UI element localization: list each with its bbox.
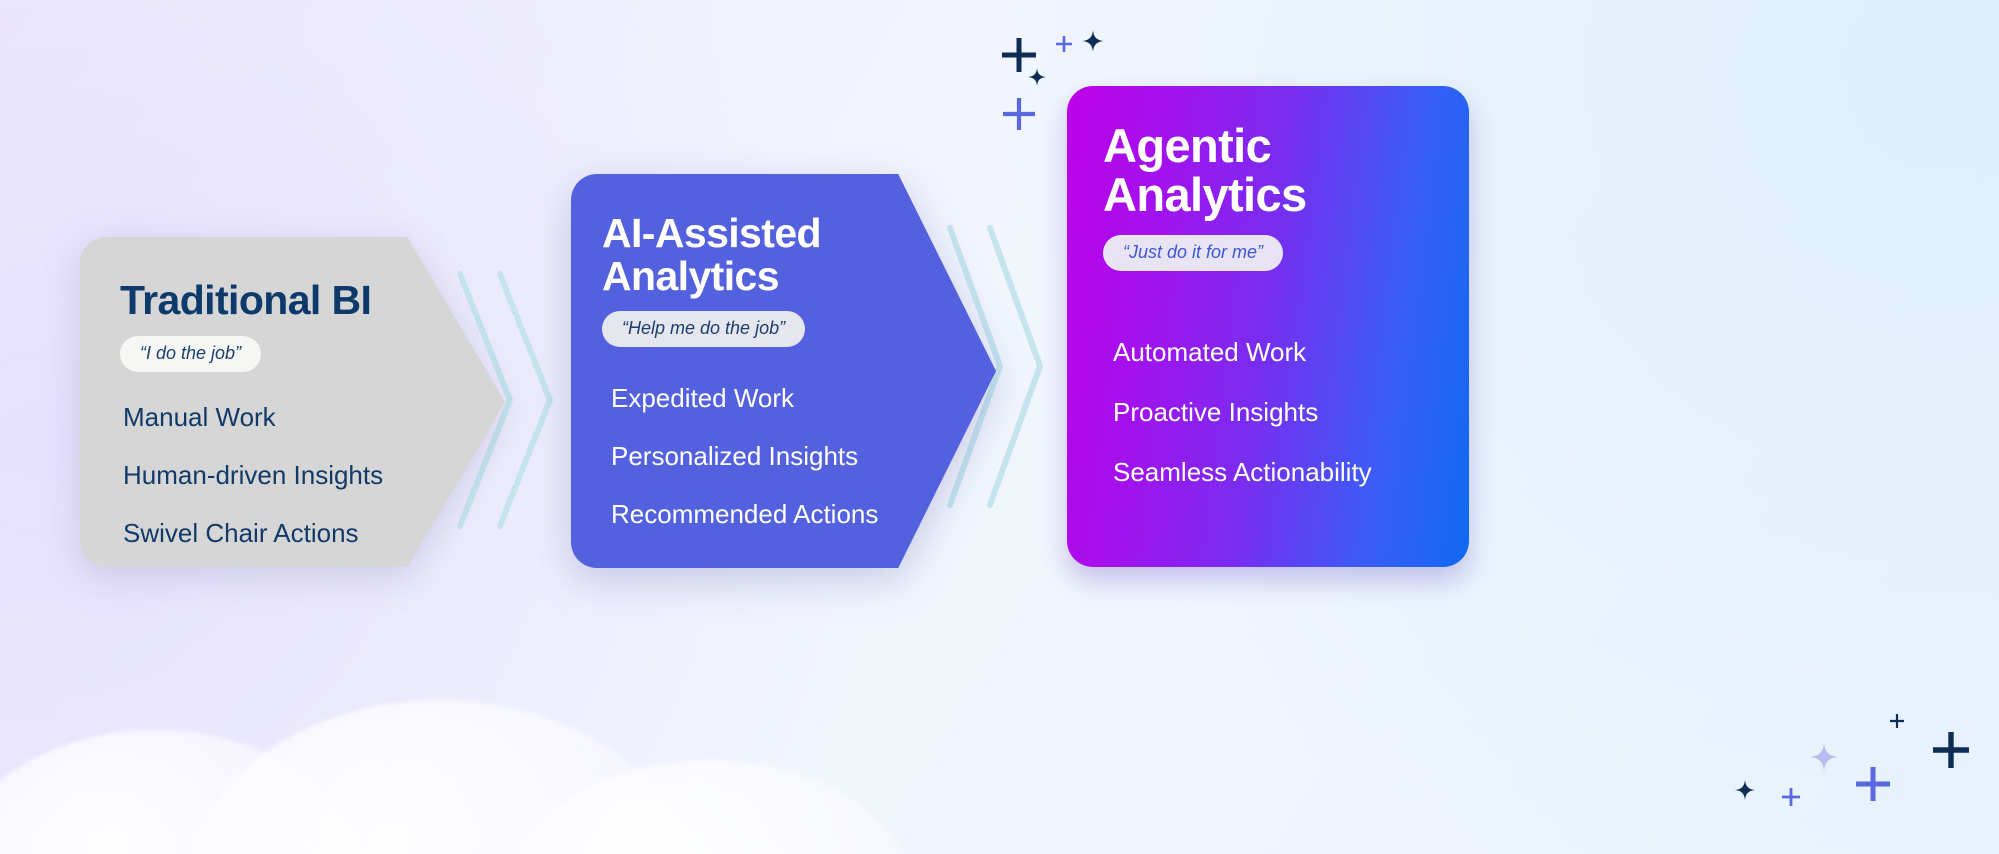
card-title: Traditional BI xyxy=(120,279,505,322)
plus-icon xyxy=(1928,727,1974,773)
cloud-blob-decoration xyxy=(500,760,920,854)
card-quote-badge: “I do the job” xyxy=(120,336,261,372)
list-item: Seamless Actionability xyxy=(1103,457,1469,488)
list-item: Proactive Insights xyxy=(1103,397,1469,428)
plus-icon xyxy=(999,94,1039,134)
card-agentic-analytics[interactable]: Agentic Analytics “Just do it for me” Au… xyxy=(1067,86,1469,567)
list-item: Recommended Actions xyxy=(602,499,996,530)
card-feature-list: Automated Work Proactive Insights Seamle… xyxy=(1103,337,1469,488)
card-title: Agentic Analytics xyxy=(1103,122,1469,220)
plus-icon xyxy=(1851,762,1895,806)
card-title: AI-Assisted Analytics xyxy=(602,212,996,297)
card-quote-badge: “Just do it for me” xyxy=(1103,235,1283,271)
card-quote-badge: “Help me do the job” xyxy=(602,311,805,347)
infographic-canvas: Traditional BI “I do the job” Manual Wor… xyxy=(0,0,1999,854)
list-item: Human-driven Insights xyxy=(120,460,505,491)
cloud-blob-decoration xyxy=(0,790,220,854)
plus-icon xyxy=(1888,712,1906,730)
sparkle-icon xyxy=(1028,68,1046,86)
sparkle-icon xyxy=(1082,30,1104,52)
sparkle-icon xyxy=(1735,780,1755,800)
cloud-blob-decoration xyxy=(0,730,370,854)
list-item: Expedited Work xyxy=(602,383,996,414)
list-item: Manual Work xyxy=(120,402,505,433)
list-item: Automated Work xyxy=(1103,337,1469,368)
cloud-blob-decoration xyxy=(180,700,700,854)
list-item: Swivel Chair Actions xyxy=(120,518,505,549)
card-ai-assisted-analytics[interactable]: AI-Assisted Analytics “Help me do the jo… xyxy=(571,174,996,568)
plus-icon xyxy=(1779,785,1803,809)
sparkle-icon xyxy=(1810,743,1838,771)
plus-icon xyxy=(1053,33,1075,55)
card-traditional-bi[interactable]: Traditional BI “I do the job” Manual Wor… xyxy=(80,237,505,567)
plus-icon xyxy=(997,33,1041,77)
card-feature-list: Expedited Work Personalized Insights Rec… xyxy=(602,383,996,530)
list-item: Personalized Insights xyxy=(602,441,996,472)
card-feature-list: Manual Work Human-driven Insights Swivel… xyxy=(120,402,505,549)
